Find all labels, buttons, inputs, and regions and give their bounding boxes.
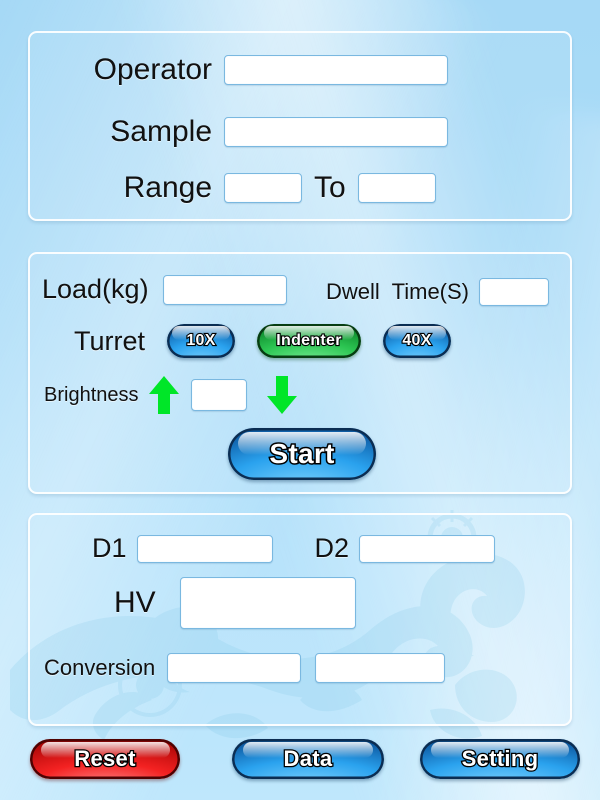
turret-option-40x[interactable]: 40X (383, 324, 451, 358)
brightness-label: Brightness (44, 384, 139, 407)
arrow-down-icon[interactable] (267, 376, 297, 414)
dwell-time-label: Dwell Time(S) (326, 279, 469, 305)
arrow-down-stem (276, 376, 288, 397)
setting-button-label: Setting (462, 746, 539, 772)
hv-input[interactable] (180, 577, 356, 629)
d1-input[interactable] (137, 535, 273, 563)
dwell-time-row: Dwell Time(S) (326, 278, 549, 306)
sample-label: Sample (54, 115, 212, 149)
turret-option-indenter[interactable]: Indenter (257, 324, 361, 358)
arrow-down-head (267, 396, 297, 414)
sample-row: Sample (54, 115, 550, 149)
brightness-input[interactable] (191, 379, 247, 411)
turret-option-10x-label: 10X (186, 332, 215, 350)
brightness-row: Brightness (44, 376, 297, 414)
arrow-up-icon[interactable] (149, 376, 179, 414)
conversion-input-2[interactable] (315, 653, 445, 683)
range-row: Range To (54, 171, 550, 205)
range-to-input[interactable] (358, 173, 436, 203)
hv-row: HV (114, 577, 356, 629)
dwell-time-input[interactable] (479, 278, 549, 306)
turret-option-indenter-label: Indenter (276, 332, 342, 350)
turret-row: Turret 10X Indenter 40X (74, 324, 451, 358)
conversion-row: Conversion (44, 653, 445, 683)
sample-input[interactable] (224, 117, 448, 147)
d2-input[interactable] (359, 535, 495, 563)
operator-input[interactable] (224, 55, 448, 85)
arrow-up-head (149, 376, 179, 394)
sample-info-panel: Operator Sample Range To (28, 31, 572, 221)
setting-button[interactable]: Setting (420, 739, 580, 779)
reset-button[interactable]: Reset (30, 739, 180, 779)
range-from-input[interactable] (224, 173, 302, 203)
start-button[interactable]: Start (228, 428, 376, 480)
arrow-up-stem (158, 393, 170, 414)
hv-label: HV (114, 586, 156, 620)
conversion-input-1[interactable] (167, 653, 301, 683)
d1-label: D1 (92, 533, 127, 564)
load-label: Load(kg) (42, 274, 149, 305)
conversion-label: Conversion (44, 655, 155, 681)
load-input[interactable] (163, 275, 287, 305)
app-root: Operator Sample Range To Load(kg) Dwell … (0, 0, 600, 800)
start-button-label: Start (269, 438, 334, 470)
turret-option-40x-label: 40X (402, 332, 431, 350)
operator-row: Operator (54, 53, 550, 87)
results-panel: D1 D2 HV Conversion (28, 513, 572, 726)
d1-d2-row: D1 D2 (92, 533, 495, 564)
turret-label: Turret (74, 326, 145, 357)
load-row: Load(kg) (42, 274, 287, 305)
turret-option-10x[interactable]: 10X (167, 324, 235, 358)
reset-button-label: Reset (74, 746, 135, 772)
d2-label: D2 (315, 533, 350, 564)
operator-label: Operator (54, 53, 212, 87)
range-label: Range (54, 171, 212, 205)
data-button[interactable]: Data (232, 739, 384, 779)
range-to-label: To (314, 171, 346, 205)
data-button-label: Data (284, 746, 333, 772)
